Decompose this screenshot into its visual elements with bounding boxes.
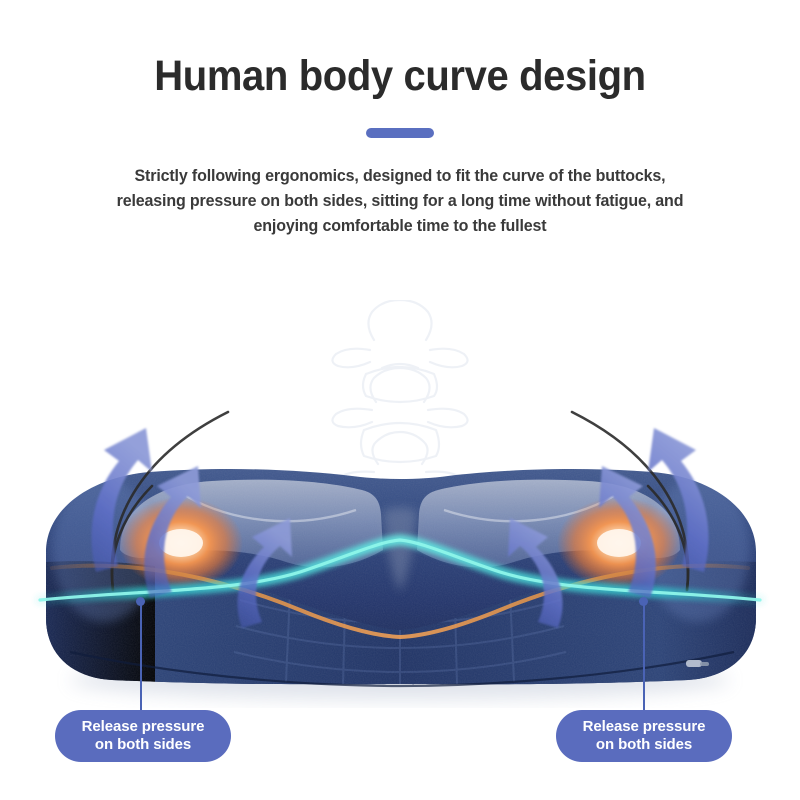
callout-badge-left[interactable]: Release pressure on both sides <box>55 710 231 762</box>
product-illustration <box>0 300 800 720</box>
callout-leader-line-right <box>643 601 645 711</box>
page-subtitle: Strictly following ergonomics, designed … <box>109 164 691 239</box>
callout-left-line1: Release pressure <box>82 718 205 735</box>
callout-leader-line-left <box>140 601 142 711</box>
callout-leader-dot-left <box>136 597 145 606</box>
callout-badge-right[interactable]: Release pressure on both sides <box>556 710 732 762</box>
title-accent-bar <box>366 128 434 138</box>
header-section: Human body curve design Strictly followi… <box>0 0 800 239</box>
callout-left-line2: on both sides <box>95 736 191 753</box>
page-title: Human body curve design <box>28 0 772 102</box>
callout-right-line1: Release pressure <box>583 718 706 735</box>
callout-right-line2: on both sides <box>596 736 692 753</box>
cushion-graphic <box>0 300 800 720</box>
product-feature-page: Human body curve design Strictly followi… <box>0 0 800 800</box>
callout-leader-dot-right <box>639 597 648 606</box>
